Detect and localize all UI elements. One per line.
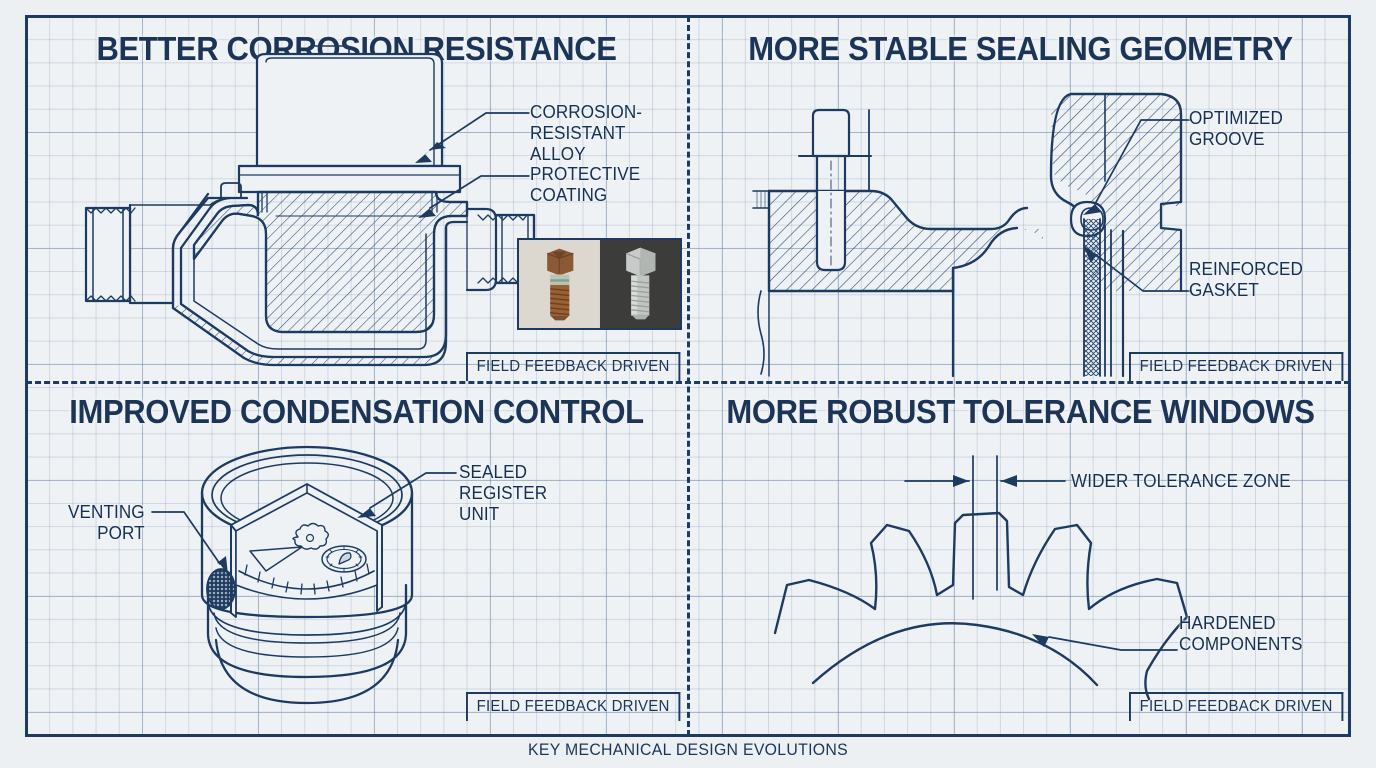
panel-better-corrosion-resistance: BETTER CORROSION RESISTANCE — [26, 16, 687, 381]
label-corrosion-resistant-alloy: CORROSION- RESISTANT ALLOY — [530, 102, 679, 165]
label-protective-coating: PROTECTIVE COATING — [530, 164, 640, 206]
label-sealed-register-unit: SEALED REGISTER UNIT — [459, 462, 547, 525]
label-hardened-components: HARDENED COMPONENTS — [1179, 613, 1303, 655]
badge-field-feedback-driven-tr: FIELD FEEDBACK DRIVEN — [1129, 352, 1343, 381]
label-wider-tolerance-zone: WIDER TOLERANCE ZONE — [1071, 471, 1291, 492]
label-reinforced-gasket: REINFORCED GASKET — [1189, 259, 1303, 301]
panel-improved-condensation-control: IMPROVED CONDENSATION CONTROL — [26, 385, 687, 736]
register-housing-isometric-drawing — [26, 385, 687, 736]
badge-field-feedback-driven-br: FIELD FEEDBACK DRIVEN — [1129, 692, 1343, 721]
bolt-comparison-photo-inset — [517, 238, 682, 330]
label-optimized-groove: OPTIMIZED GROOVE — [1189, 108, 1283, 150]
badge-field-feedback-driven-tl: FIELD FEEDBACK DRIVEN — [466, 352, 680, 381]
horizontal-dashed-divider — [26, 381, 1350, 384]
flange-seal-cross-section-drawing — [691, 16, 1350, 381]
panel-more-stable-sealing-geometry: MORE STABLE SEALING GEOMETRY — [691, 16, 1350, 381]
label-venting-port: VENTING PORT — [68, 502, 145, 544]
gear-profile-with-dimension-drawing — [691, 385, 1350, 736]
panel-more-robust-tolerance-windows: MORE ROBUST TOLERANCE WINDOWS WI — [691, 385, 1350, 736]
badge-field-feedback-driven-bl: FIELD FEEDBACK DRIVEN — [466, 692, 680, 721]
clean-bolt-photo — [600, 240, 681, 328]
blueprint-infographic: BETTER CORROSION RESISTANCE — [0, 0, 1376, 768]
bottom-caption: KEY MECHANICAL DESIGN EVOLUTIONS — [28, 741, 1349, 760]
vertical-dashed-divider — [687, 16, 690, 736]
corroded-bolt-photo — [519, 240, 600, 328]
